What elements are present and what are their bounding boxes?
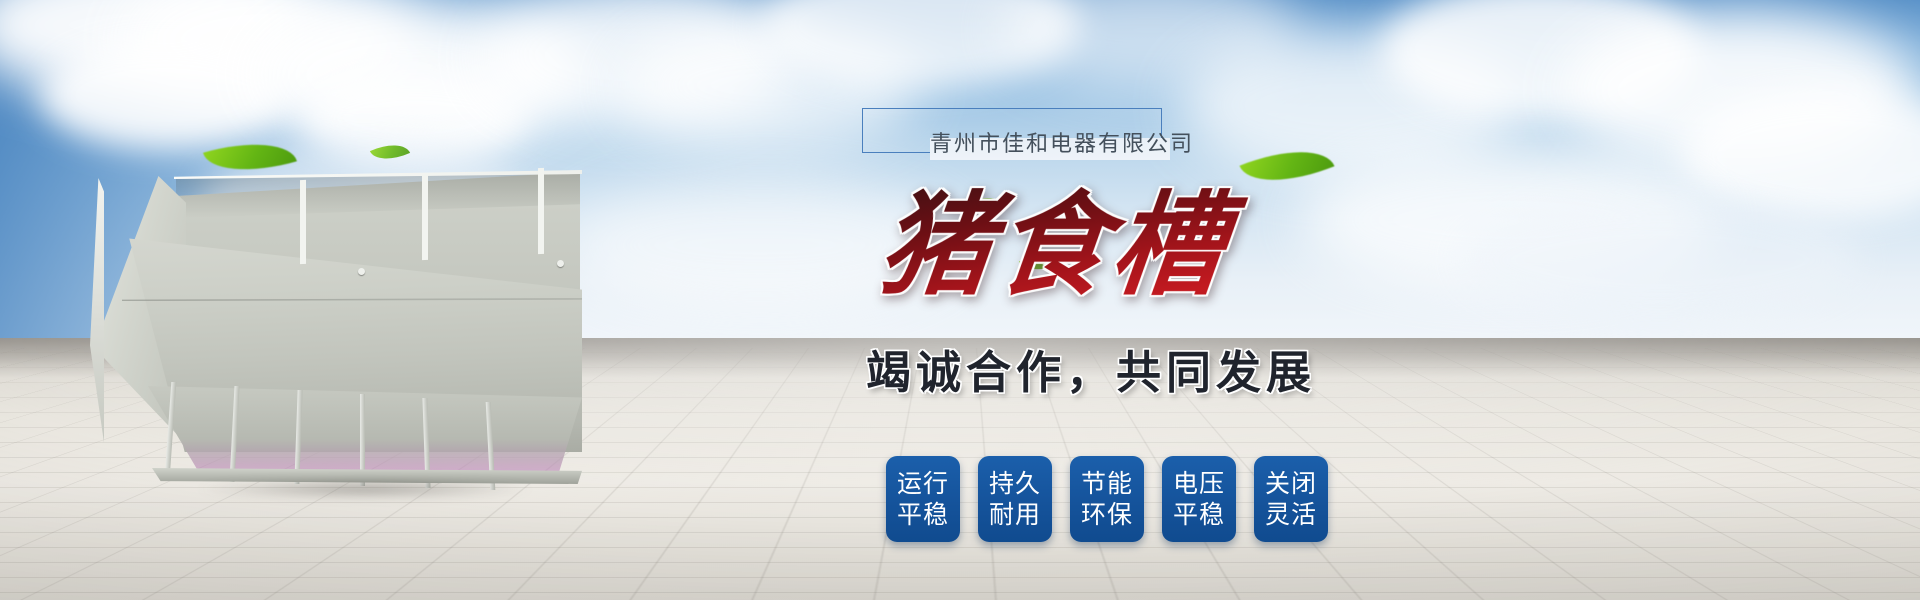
company-name: 青州市佳和电器有限公司 <box>930 126 1350 158</box>
feature-badge-line1: 节能 <box>1081 468 1133 499</box>
feature-badge-line2: 环保 <box>1081 499 1133 530</box>
feature-badge[interactable]: 运行 平稳 <box>886 456 960 542</box>
slogan-subtitle: 竭诚合作，共同发展 <box>866 348 1326 398</box>
feature-badge-line1: 关闭 <box>1265 468 1317 499</box>
promo-banner: 青州市佳和电器有限公司 猪食槽 竭诚合作，共同发展 运行 平稳 持久 耐用 节能… <box>0 0 1920 600</box>
feature-badge-line2: 平稳 <box>1173 499 1225 530</box>
feature-badge[interactable]: 持久 耐用 <box>978 456 1052 542</box>
product-image-pig-feeder-trough <box>60 150 580 480</box>
feature-badge-line2: 灵活 <box>1265 499 1317 530</box>
feature-badge-line1: 运行 <box>897 468 949 499</box>
feature-badge-line1: 电压 <box>1173 468 1225 499</box>
feature-badge-line1: 持久 <box>989 468 1041 499</box>
feature-badge[interactable]: 电压 平稳 <box>1162 456 1236 542</box>
feature-badge[interactable]: 节能 环保 <box>1070 456 1144 542</box>
page-title: 猪食槽 <box>873 182 1317 312</box>
feature-badge-list: 运行 平稳 持久 耐用 节能 环保 电压 平稳 关闭 灵活 <box>886 456 1328 542</box>
feature-badge[interactable]: 关闭 灵活 <box>1254 456 1328 542</box>
feature-badge-line2: 平稳 <box>897 499 949 530</box>
feature-badge-line2: 耐用 <box>989 499 1041 530</box>
